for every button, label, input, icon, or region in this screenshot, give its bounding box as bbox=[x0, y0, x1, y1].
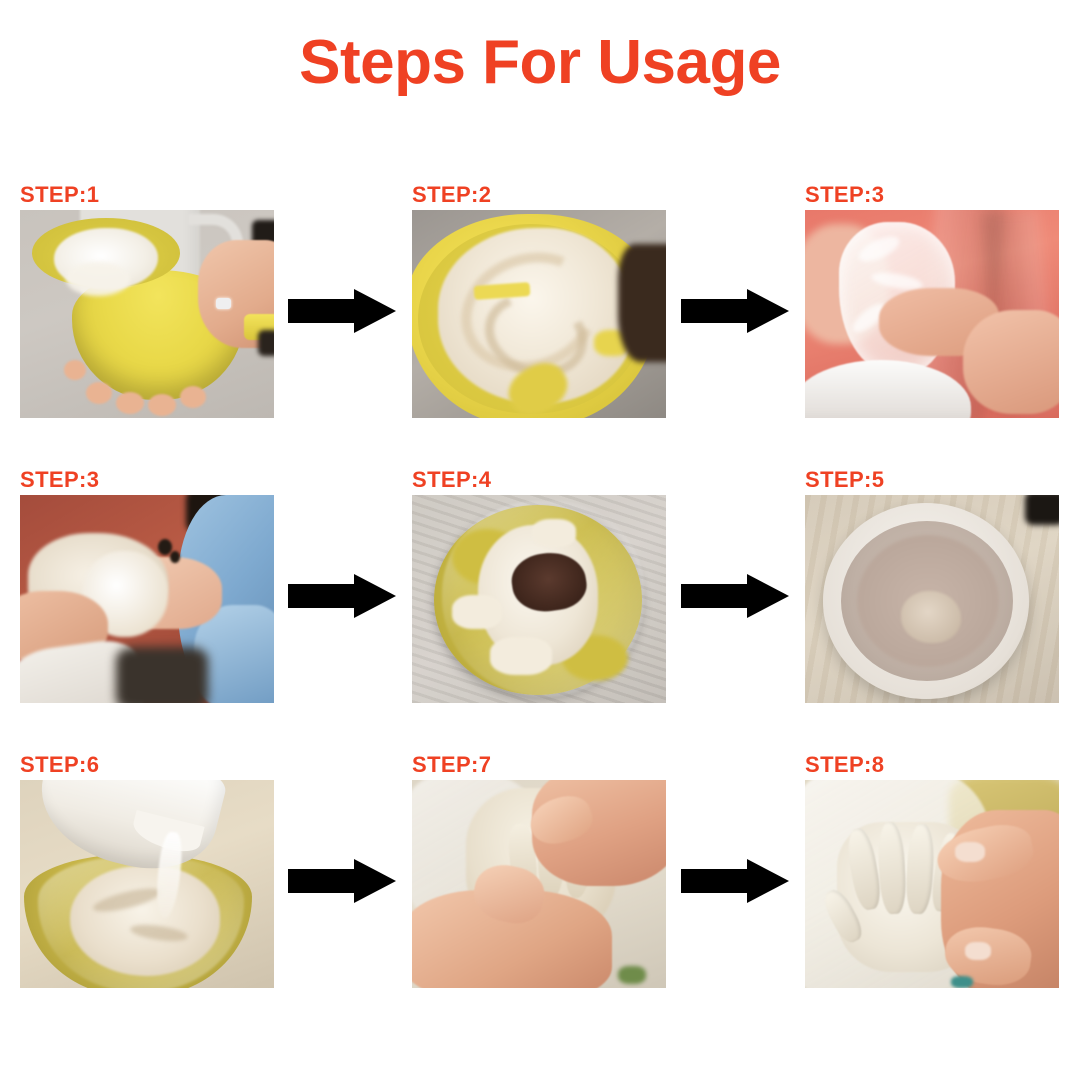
arrow-right-icon bbox=[286, 573, 398, 619]
step-label: STEP:5 bbox=[805, 465, 1059, 495]
step-row: STEP:3 STEP:4 bbox=[0, 465, 1080, 750]
step-photo-4 bbox=[20, 495, 274, 703]
step-photo-3 bbox=[805, 210, 1059, 418]
step-label: STEP:8 bbox=[805, 750, 1059, 780]
step-cell: STEP:4 bbox=[412, 465, 666, 703]
step-label: STEP:3 bbox=[20, 465, 274, 495]
step-photo-9 bbox=[805, 780, 1059, 988]
step-label: STEP:6 bbox=[20, 750, 274, 780]
step-label: STEP:1 bbox=[20, 180, 274, 210]
step-cell: STEP:3 bbox=[20, 465, 274, 703]
arrow-right-icon bbox=[286, 858, 398, 904]
steps-grid: STEP:1 bbox=[0, 180, 1080, 1035]
step-label: STEP:3 bbox=[805, 180, 1059, 210]
step-cell: STEP:1 bbox=[20, 180, 274, 418]
arrow-right-icon bbox=[679, 573, 791, 619]
arrow-right-icon bbox=[679, 288, 791, 334]
step-cell: STEP:8 bbox=[805, 750, 1059, 988]
step-photo-6 bbox=[805, 495, 1059, 703]
step-cell: STEP:6 bbox=[20, 750, 274, 988]
step-photo-7 bbox=[20, 780, 274, 988]
step-cell: STEP:3 bbox=[805, 180, 1059, 418]
step-cell: STEP:2 bbox=[412, 180, 666, 418]
step-label: STEP:4 bbox=[412, 465, 666, 495]
step-label: STEP:7 bbox=[412, 750, 666, 780]
arrow-right-icon bbox=[679, 858, 791, 904]
step-photo-2 bbox=[412, 210, 666, 418]
step-label: STEP:2 bbox=[412, 180, 666, 210]
step-row: STEP:1 bbox=[0, 180, 1080, 465]
page-title: Steps For Usage bbox=[0, 30, 1080, 95]
arrow-right-icon bbox=[286, 288, 398, 334]
step-row: STEP:6 STEP:7 bbox=[0, 750, 1080, 1035]
step-photo-8 bbox=[412, 780, 666, 988]
step-photo-1 bbox=[20, 210, 274, 418]
step-photo-5 bbox=[412, 495, 666, 703]
step-cell: STEP:7 bbox=[412, 750, 666, 988]
step-cell: STEP:5 bbox=[805, 465, 1059, 703]
